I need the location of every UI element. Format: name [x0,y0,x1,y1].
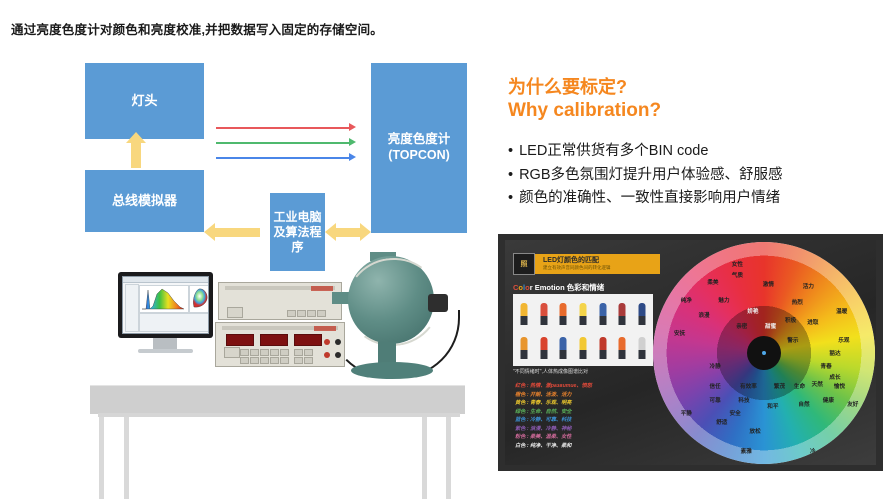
wheel-label: 友好 [847,400,858,408]
thermal-figure [614,332,631,362]
wheel-label: 有效率 [740,382,757,390]
instrument-key [270,349,279,356]
instrument-switch [227,307,243,318]
slide-banner-subtitle: 建立有效声音同颜色间的转化逻辑 [543,265,611,271]
wheel-label: 安抚 [674,329,685,337]
sphere-stand-base [351,362,433,379]
meter-brand: (TOPCON) [388,148,451,164]
wheel-label: 放松 [750,427,761,435]
instrument-key [280,349,289,356]
power-supply-instrument [215,322,345,367]
wheel-label: 柔美 [707,278,718,286]
instrument-key [260,349,269,356]
instrument-key [260,357,269,364]
list-item: 绿色 : 生命、自然、安全 [515,408,592,417]
slide-background: 照 LED灯颜色的匹配 建立有效声音同颜色间的转化逻辑 Color Emotio… [505,240,876,465]
wheel-label: 豁达 [829,349,840,357]
spectrum-chart [139,285,189,313]
wheel-label: 暖 [857,274,863,282]
software-body [125,284,206,331]
lab-setup-photo [70,250,470,470]
page-caption: 通过亮度色度计对颜色和亮度校准,并把数据写入固定的存储空间。 [11,19,383,38]
spectrum-curve-icon [140,286,186,310]
led-display [226,334,254,346]
wheel-label: 温暖 [836,307,847,315]
led-display [260,334,288,346]
list-item: 橙色 : 开朗、活泼、活力 [515,391,592,400]
green-arrow-icon [216,142,351,144]
slide-banner: LED灯颜色的匹配 建立有效声音同颜色间的转化逻辑 [535,254,660,274]
arrow-bidirectional-icon [336,228,360,237]
instrument-key [270,357,279,364]
figure-row [516,332,650,362]
wheel-label: 生命 [794,382,805,390]
lab-table-rail [98,413,460,417]
cie-chromaticity-diagram [189,285,209,313]
software-toolbar-panel [139,313,209,332]
wheel-label: 甜蜜 [765,322,776,330]
table-leg [99,417,104,499]
arrow-left-icon [215,228,260,237]
blue-arrow-icon [216,157,351,159]
wheel-label: 愉悦 [834,382,845,390]
wheel-label: 和平 [767,402,778,410]
thermal-figure [536,298,553,328]
table-leg [422,417,427,499]
instrument-key [280,357,289,364]
thermal-figure [575,298,592,328]
monitor-stand [153,338,177,349]
thermal-figures-image [513,294,653,366]
thermal-figure [555,332,572,362]
instrument-key [307,310,316,317]
list-item: 粉色 : 柔美、温柔、女性 [515,433,592,442]
wheel-label: 浪漫 [698,311,709,319]
wheel-label: 科技 [738,396,749,404]
calibration-block-diagram: 灯头 总线模拟器 工业电脑及算法程序 亮度色度计 (TOPCON) [0,50,490,235]
slide-banner-title: LED灯颜色的匹配 [543,255,599,265]
meter-name: 亮度色度计 [388,132,451,148]
thermal-figure [575,332,592,362]
lab-table-top [90,385,465,414]
led-display [294,334,322,346]
red-arrow-head-icon [349,123,356,131]
instrument-key [304,349,313,356]
list-item: 紫色 : 浪漫、冷静、神秘 [515,425,592,434]
instrument-key [250,357,259,364]
wheel-label: 冷 [810,447,816,455]
wheel-label: 警示 [787,336,798,344]
block-bus-simulator: 总线模拟器 [85,170,204,232]
figure-caption: "不同情绪时",人体热成像图谱比对 [513,368,588,375]
thermal-figure [536,332,553,362]
sphere-detector-port [428,294,448,312]
rgb-light-arrows [216,120,368,162]
panel-heading-en: Why calibration? [508,99,878,123]
blue-arrow-head-icon [349,153,356,161]
terminal-post-red [324,352,330,358]
wheel-label: 激情 [763,280,774,288]
color-emotion-wheel: 女性 气质 柔美 纯净 浪漫 安抚 魅力 激情 娇艳 甜蜜 亲密 活力 热烈 积… [653,242,875,464]
instrument-key [240,357,249,364]
list-item: 白色 : 纯净、干净、柔和 [515,442,592,451]
wheel-label: 娇艳 [747,307,758,315]
thermal-figure [555,298,572,328]
block-luminance-colorimeter: 亮度色度计 (TOPCON) [371,63,467,233]
software-side-panel [125,284,139,332]
instrument-key [250,349,259,356]
thermal-figure [594,332,611,362]
why-calibration-panel: 为什么要标定? Why calibration? LED正常供货有多个BIN c… [508,76,878,211]
instrument-key [294,357,303,364]
thermal-figure [516,298,533,328]
list-item: RGB多色氛围灯提升用户体验感、舒服感 [508,164,878,187]
wheel-label: 信任 [710,382,721,390]
figure-row [516,298,650,328]
wheel-label: 纯净 [681,296,692,304]
wheel-label: 自然 [798,400,809,408]
wheel-label: 气质 [732,271,743,279]
wheel-label: 青春 [821,362,832,370]
wheel-label: 天然 [812,380,823,388]
wheel-center-dot [762,351,766,355]
wheel-label: 进取 [807,318,818,326]
list-item: 红色 : 热情、激развитие、愤怒 [515,382,592,391]
wheel-label: 安全 [730,409,741,417]
wheel-label: 冷静 [710,362,721,370]
software-menubar [123,277,208,283]
wheel-label: 魅力 [718,296,729,304]
thermal-figure [633,298,650,328]
wheel-label: 亲密 [736,322,747,330]
wheel-label: 热烈 [792,298,803,306]
list-item: 蓝色 : 冷静、可靠、科技 [515,416,592,425]
cie-horseshoe-icon [190,286,209,310]
thermal-figure [614,298,631,328]
table-leg [446,417,451,499]
wheel-label: 可靠 [710,396,721,404]
green-arrow-head-icon [349,138,356,146]
spectrometer-instrument [218,282,342,320]
panel-heading-cn: 为什么要标定? [508,76,878,99]
thermal-figure [594,298,611,328]
table-leg [124,417,129,499]
sphere-stand-neck [378,342,396,364]
list-item: 黄色 : 青春、乐观、明亮 [515,399,592,408]
list-item: 颜色的准确性、一致性直接影响用户情绪 [508,187,878,210]
monitor-base [138,349,193,353]
instrument-key [317,310,326,317]
instrument-switch [224,347,240,358]
list-item: LED正常供货有多个BIN code [508,140,878,163]
wheel-label: 成长 [829,373,840,381]
wheel-label: 素雅 [741,447,752,455]
block-lamp-head: 灯头 [85,63,204,139]
monitor-screen [122,276,209,334]
wheel-label: 平静 [681,409,692,417]
wheel-label: 干净 [667,424,678,432]
seal-label: 照 [521,259,528,269]
color-emotion-slide: 照 LED灯颜色的匹配 建立有效声音同颜色间的转化逻辑 Color Emotio… [498,234,883,471]
seal-icon: 照 [513,253,535,275]
terminal-post-red [324,339,330,345]
wheel-label: 积极 [785,316,796,324]
thermal-figure [633,332,650,362]
wheel-label: 繁茂 [774,382,785,390]
wheel-label: 乐观 [838,336,849,344]
calibration-reason-list: LED正常供货有多个BIN code RGB多色氛围灯提升用户体验感、舒服感 颜… [508,140,878,210]
instrument-key [304,357,313,364]
instrument-key [240,349,249,356]
thermal-figure [516,332,533,362]
wheel-label: 活力 [803,282,814,290]
wheel-label: 健康 [823,396,834,404]
arrow-up-icon [131,142,141,168]
instrument-brand-logo [311,286,333,291]
color-emotion-heading: Color Emotion 色彩和情绪 [513,282,604,293]
instrument-key [294,349,303,356]
wheel-label: 舒适 [716,418,727,426]
instrument-key [297,310,306,317]
computer-monitor [118,272,213,338]
wheel-label: 女性 [732,260,743,268]
instrument-key [287,310,296,317]
color-meaning-list: 红色 : 热情、激развитие、愤怒 橙色 : 开朗、活泼、活力 黄色 : … [515,382,592,451]
red-arrow-icon [216,127,351,129]
